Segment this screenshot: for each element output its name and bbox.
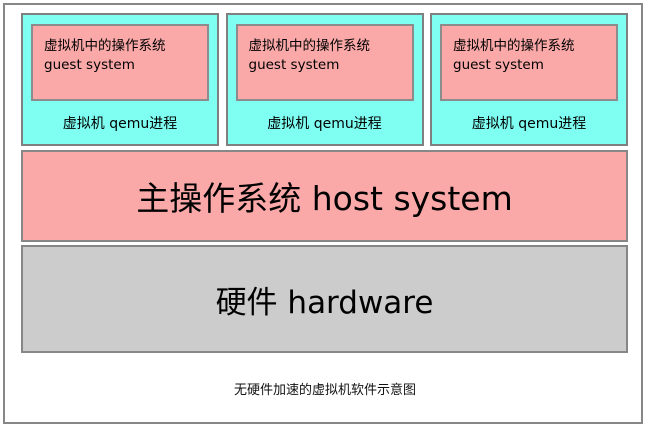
hardware-box: 硬件 hardware	[21, 245, 628, 353]
vm-process-label-1: 虚拟机 qemu进程	[31, 101, 209, 144]
guest-system-box-3: 虚拟机中的操作系统 guest system	[440, 24, 618, 101]
vm-box-2: 虚拟机中的操作系统 guest system 虚拟机 qemu进程	[226, 13, 424, 146]
virtual-machine-row: 虚拟机中的操作系统 guest system 虚拟机 qemu进程 虚拟机中的操…	[21, 13, 628, 146]
hardware-label: 硬件 hardware	[216, 277, 434, 322]
guest-system-label-en-3: guest system	[453, 56, 616, 75]
diagram-caption: 无硬件加速的虚拟机软件示意图	[5, 379, 645, 398]
host-system-box: 主操作系统 host system	[21, 150, 628, 242]
vm-box-1: 虚拟机中的操作系统 guest system 虚拟机 qemu进程	[21, 13, 219, 146]
vm-box-3: 虚拟机中的操作系统 guest system 虚拟机 qemu进程	[430, 13, 628, 146]
guest-system-box-2: 虚拟机中的操作系统 guest system	[236, 24, 414, 101]
guest-system-label-cn-2: 虚拟机中的操作系统	[249, 37, 412, 56]
guest-system-label-en-2: guest system	[249, 56, 412, 75]
guest-system-label-cn-1: 虚拟机中的操作系统	[44, 37, 207, 56]
guest-system-label-cn-3: 虚拟机中的操作系统	[453, 37, 616, 56]
diagram-canvas: 虚拟机中的操作系统 guest system 虚拟机 qemu进程 虚拟机中的操…	[3, 3, 643, 424]
vm-process-label-3: 虚拟机 qemu进程	[440, 101, 618, 144]
guest-system-box-1: 虚拟机中的操作系统 guest system	[31, 24, 209, 101]
guest-system-label-en-1: guest system	[44, 56, 207, 75]
vm-process-label-2: 虚拟机 qemu进程	[236, 101, 414, 144]
host-system-label: 主操作系统 host system	[136, 172, 513, 220]
